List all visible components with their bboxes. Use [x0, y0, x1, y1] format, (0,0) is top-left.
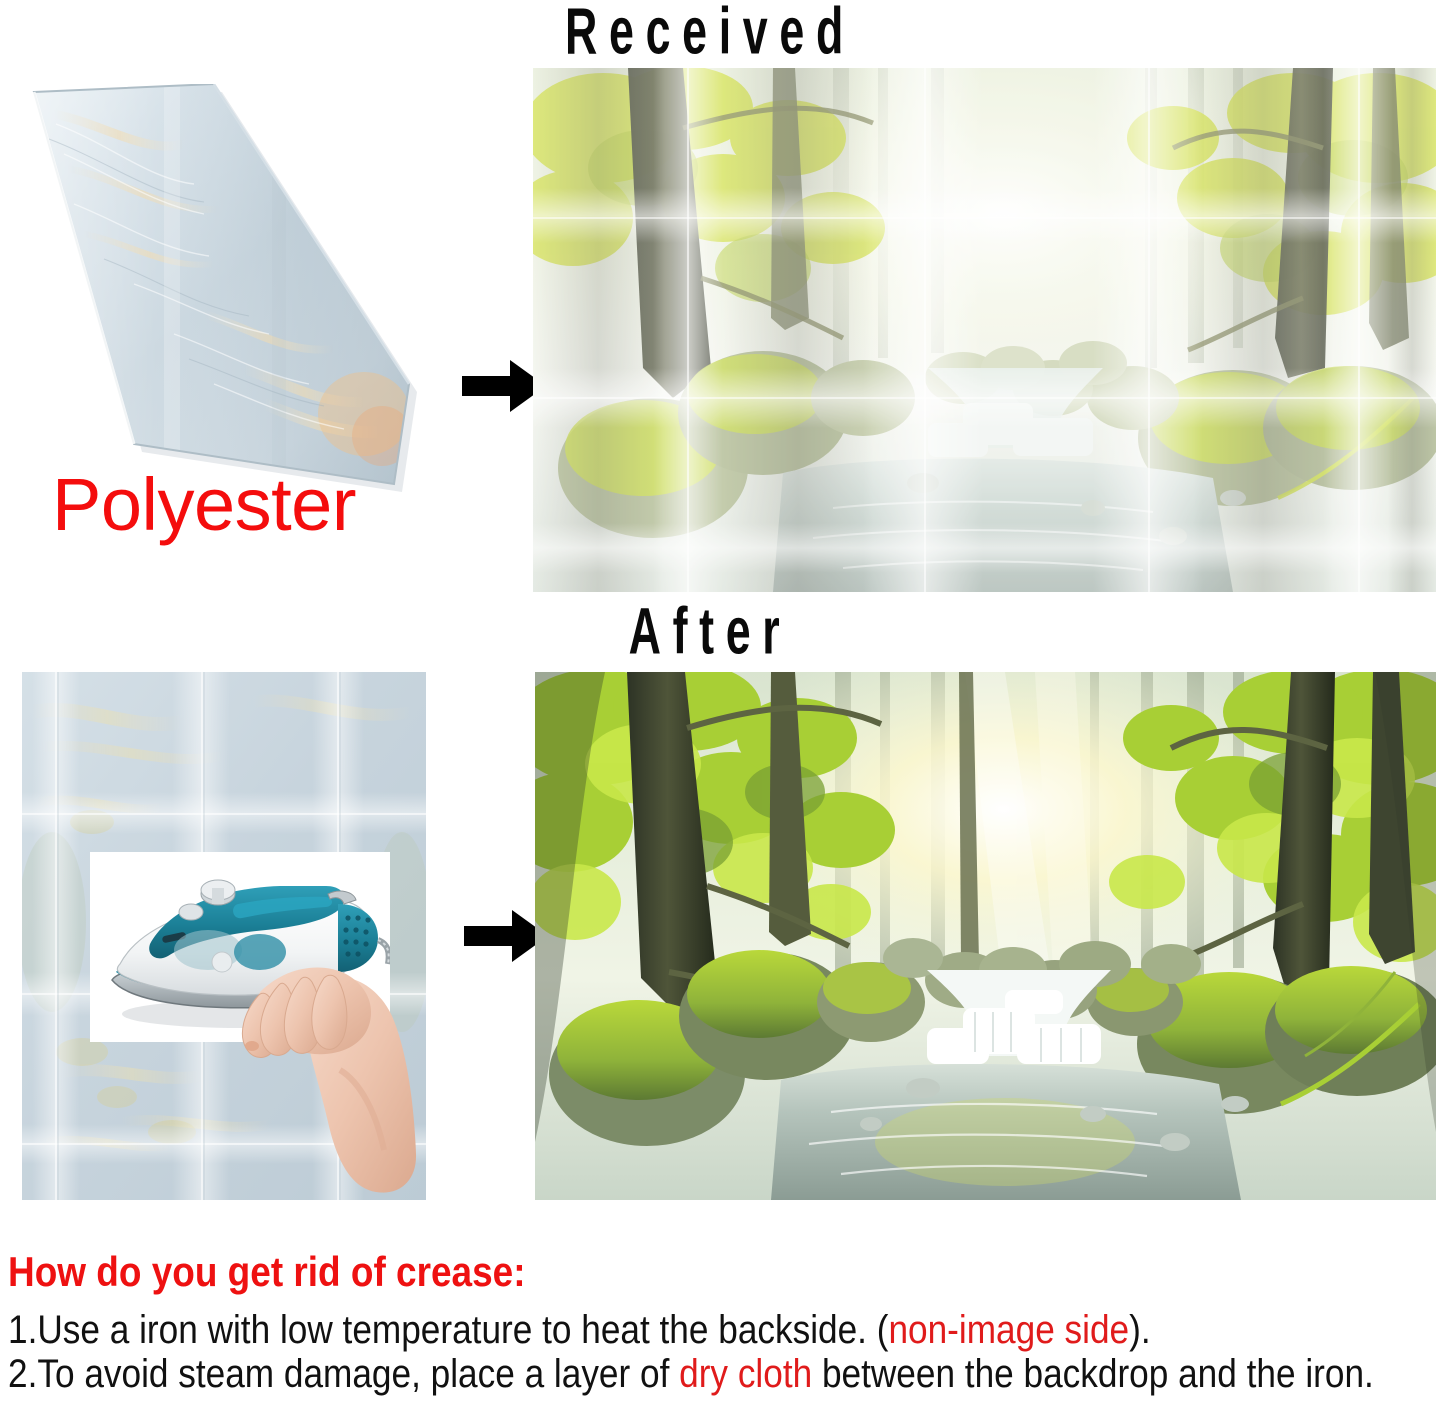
- steam-iron-icon: [90, 852, 390, 1042]
- polyester-label: Polyester: [52, 462, 356, 547]
- heading-received: Received: [430, 0, 990, 69]
- instruction-line-2: 2.To avoid steam damage, place a layer o…: [8, 1352, 1374, 1397]
- after-forest-backdrop: [535, 672, 1436, 1200]
- instruction-2-prefix: 2.To avoid steam damage, place a layer o…: [8, 1352, 679, 1396]
- heading-after: After: [486, 592, 934, 669]
- instruction-2-suffix: between the backdrop and the iron.: [812, 1352, 1374, 1396]
- instruction-1-suffix: ).: [1129, 1308, 1151, 1352]
- product-instruction-page: Received: [0, 0, 1436, 1402]
- instruction-1-highlight: non-image side: [888, 1308, 1129, 1352]
- received-forest-backdrop: [533, 68, 1436, 592]
- instruction-line-1: 1.Use a iron with low temperature to hea…: [8, 1308, 1151, 1353]
- folded-fabric-photo: [14, 84, 424, 492]
- instruction-1-prefix: 1.Use a iron with low temperature to hea…: [8, 1308, 888, 1352]
- instruction-2-highlight: dry cloth: [679, 1352, 812, 1396]
- instructions-title: How do you get rid of crease:: [8, 1248, 526, 1296]
